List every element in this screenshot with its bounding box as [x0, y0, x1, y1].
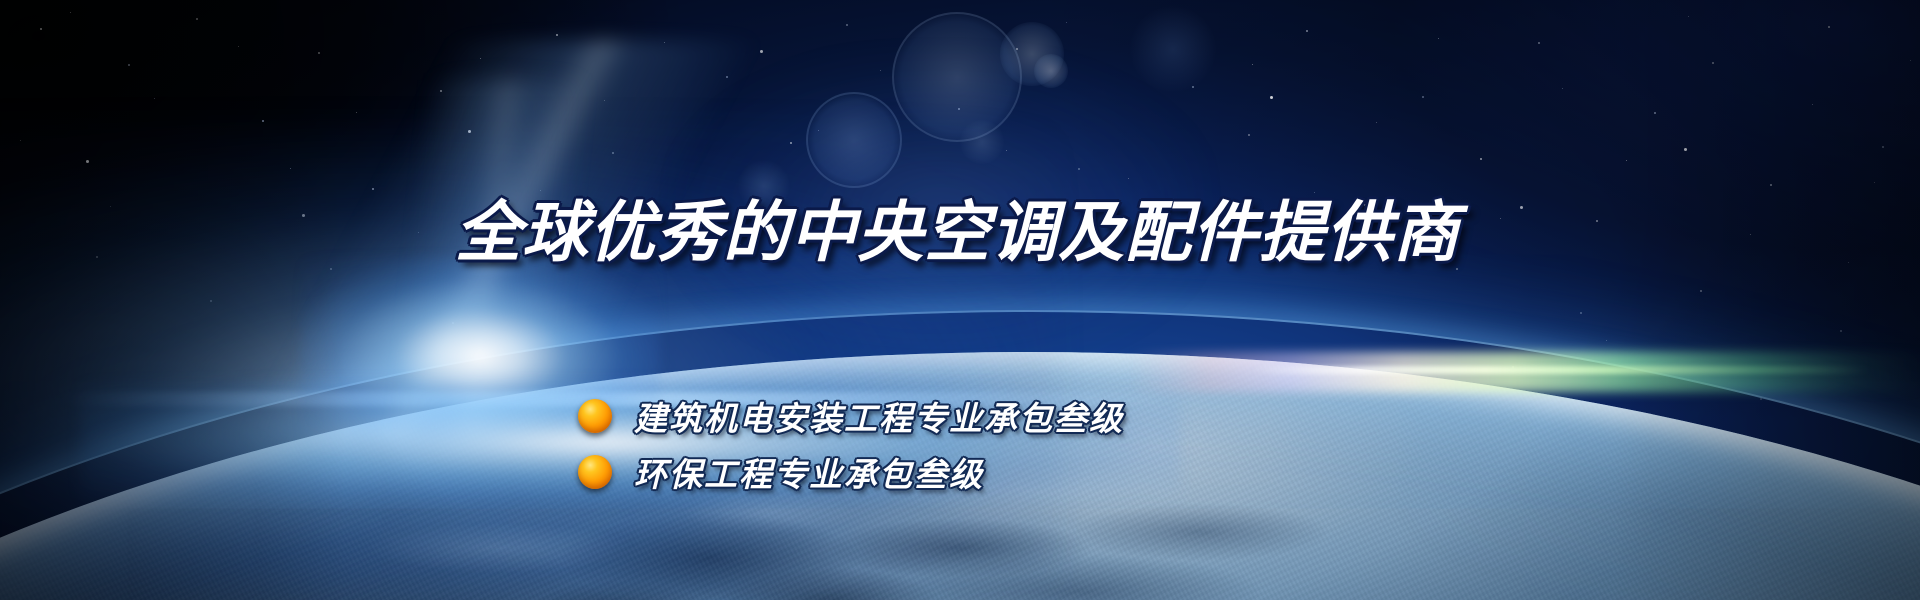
bullet-item-label: 建筑机电安装工程专业承包叁级	[634, 392, 1124, 440]
orange-dot-bullet-icon	[578, 399, 612, 433]
banner-bullet-list: 建筑机电安装工程专业承包叁级 环保工程专业承包叁级	[578, 388, 1124, 500]
list-item: 环保工程专业承包叁级	[578, 444, 1124, 500]
banner-headline: 全球优秀的中央空调及配件提供商	[455, 200, 1460, 266]
bullet-item-label: 环保工程专业承包叁级	[634, 448, 984, 496]
hero-banner: 全球优秀的中央空调及配件提供商 建筑机电安装工程专业承包叁级 环保工程专业承包叁…	[0, 0, 1920, 600]
list-item: 建筑机电安装工程专业承包叁级	[578, 388, 1124, 444]
orange-dot-bullet-icon	[578, 455, 612, 489]
banner-content: 全球优秀的中央空调及配件提供商 建筑机电安装工程专业承包叁级 环保工程专业承包叁…	[0, 0, 1920, 600]
